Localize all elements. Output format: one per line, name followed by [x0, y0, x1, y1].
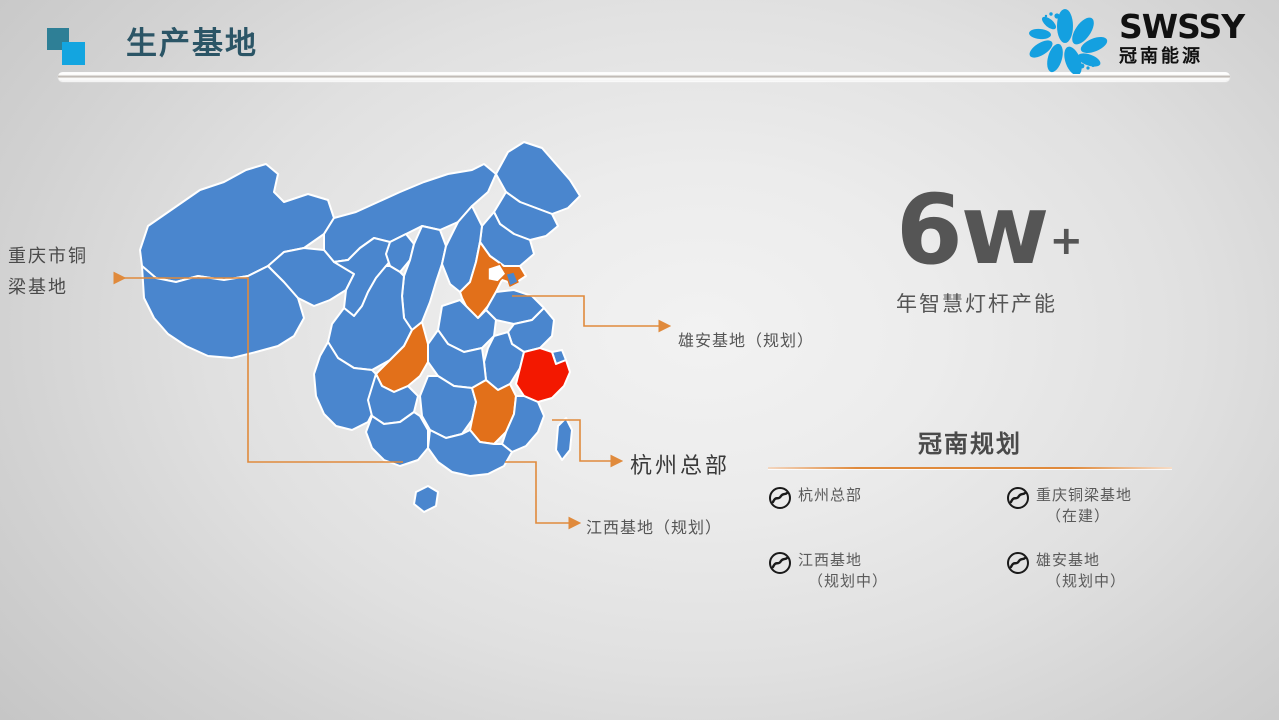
plan-item-chongqing-line2: （在建） — [1036, 506, 1132, 527]
circle-bolt-icon — [768, 486, 792, 510]
callout-chongqing-line2: 梁基地 — [8, 273, 88, 304]
callout-chongqing: 重庆市铜 梁基地 — [8, 242, 88, 304]
logo-name: SWSSY — [1119, 10, 1274, 43]
plan-title: 冠南规划 — [768, 424, 1172, 459]
callout-headquarters: 杭州总部 — [630, 448, 730, 480]
plan-item-xiongan[interactable]: 雄安基地 （规划中） — [1006, 550, 1172, 593]
map-region-tibet — [142, 266, 304, 358]
callout-xiongan: 雄安基地（规划） — [678, 327, 814, 351]
plan-item-jiangxi-line2: （规划中） — [798, 571, 888, 592]
plan-item-hangzhou-text: 杭州总部 — [798, 485, 862, 506]
plan-item-hangzhou[interactable]: 杭州总部 — [768, 485, 1006, 528]
plan-items-grid: 杭州总部 重庆铜梁基地 （在建） 江西基地 — [768, 485, 1172, 592]
plan-item-xiongan-line2: （规划中） — [1036, 571, 1126, 592]
flower-petal-icon — [1015, 8, 1115, 74]
stat-label: 年智慧灯杆产能 — [896, 288, 1226, 318]
callout-chongqing-line1: 重庆市铜 — [8, 242, 88, 273]
stat-plus-sign: + — [1049, 218, 1083, 264]
plan-item-chongqing[interactable]: 重庆铜梁基地 （在建） — [1006, 485, 1172, 528]
slide-header: 生产基地 — [0, 0, 1279, 92]
logo-text-block: SWSSY 冠南能源 — [1119, 10, 1274, 66]
header-square-light-icon — [62, 42, 85, 65]
circle-bolt-icon — [1006, 551, 1030, 575]
company-logo: SWSSY 冠南能源 — [1015, 4, 1273, 78]
logo-subtitle: 冠南能源 — [1119, 48, 1274, 66]
map-region-hainan — [414, 486, 438, 512]
plan-item-jiangxi-text: 江西基地 （规划中） — [798, 550, 888, 593]
capacity-stat: 6w+ 年智慧灯杆产能 — [896, 186, 1226, 318]
circle-bolt-icon — [768, 551, 792, 575]
plan-divider — [768, 467, 1172, 469]
slide-root: 生产基地 — [0, 0, 1279, 720]
plan-item-jiangxi[interactable]: 江西基地 （规划中） — [768, 550, 1006, 593]
plan-item-chongqing-line1: 重庆铜梁基地 — [1036, 486, 1132, 504]
map-region-taiwan — [556, 418, 572, 460]
plan-item-xiongan-text: 雄安基地 （规划中） — [1036, 550, 1126, 593]
circle-bolt-icon — [1006, 486, 1030, 510]
stat-number: 6w — [896, 186, 1047, 274]
callout-jiangxi: 江西基地（规划） — [586, 514, 722, 538]
plan-item-jiangxi-line1: 江西基地 — [798, 551, 862, 569]
plan-item-chongqing-text: 重庆铜梁基地 （在建） — [1036, 485, 1132, 528]
china-map — [128, 130, 688, 560]
stat-value-row: 6w+ — [896, 186, 1226, 274]
plan-panel: 冠南规划 杭州总部 重庆铜梁基地 （在建） — [768, 424, 1172, 592]
china-map-svg — [128, 130, 688, 560]
page-title: 生产基地 — [126, 26, 258, 63]
plan-item-hangzhou-line1: 杭州总部 — [798, 486, 862, 504]
plan-item-xiongan-line1: 雄安基地 — [1036, 551, 1100, 569]
